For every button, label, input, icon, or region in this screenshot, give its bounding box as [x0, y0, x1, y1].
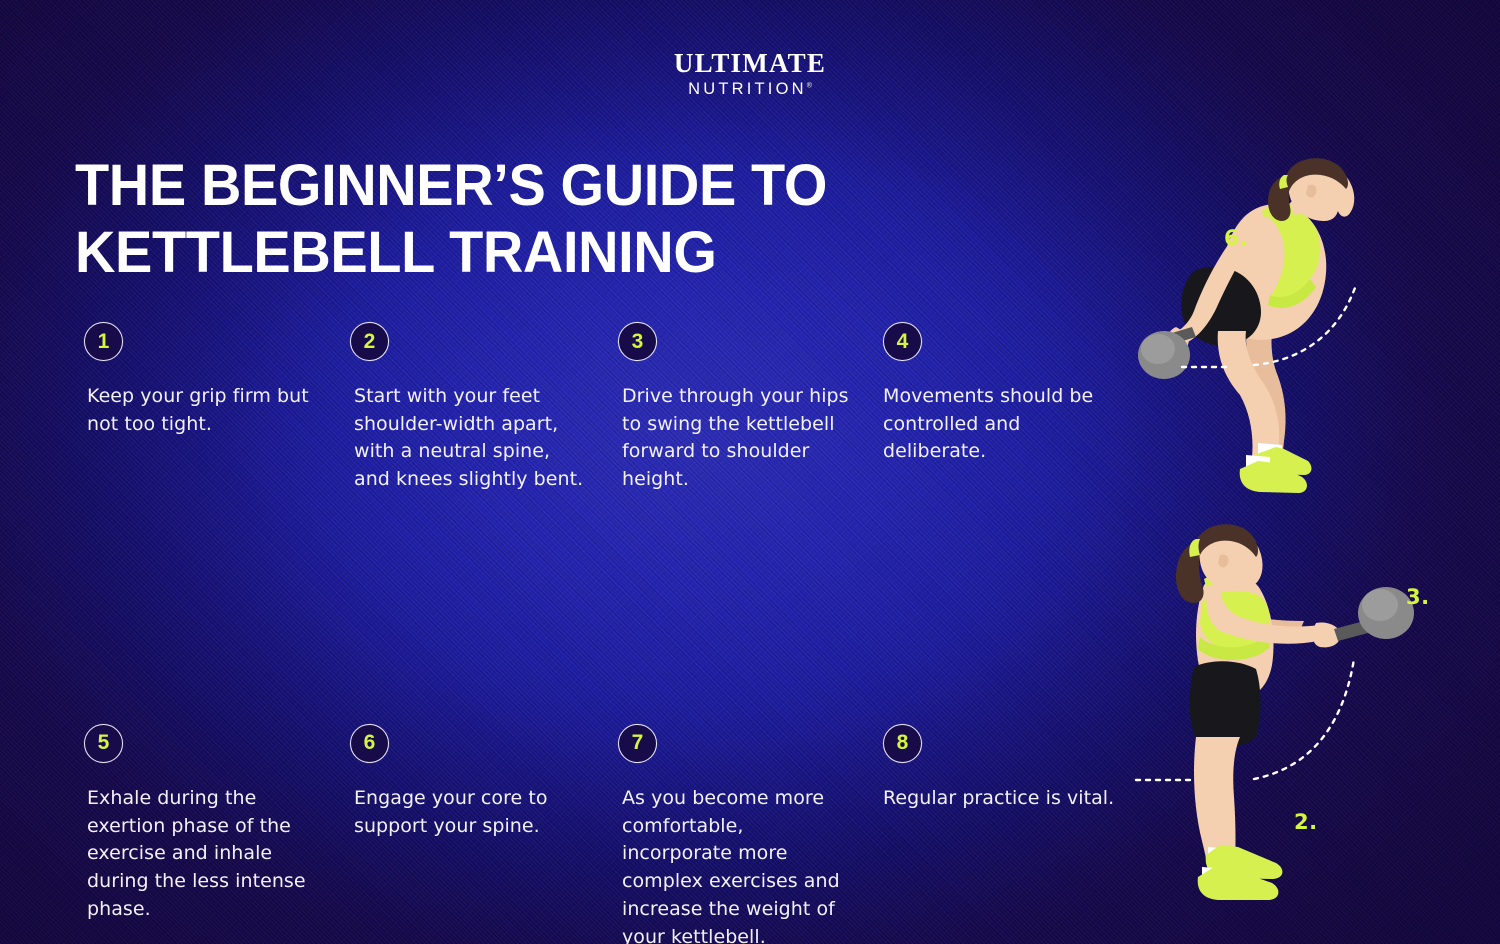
tip-number-badge-6: 6 — [350, 724, 389, 763]
tip-item-4: 4 Movements should be controlled and del… — [874, 322, 1144, 494]
kettlebell-highlight — [1141, 334, 1175, 364]
tip-text-2: Start with your feet shoulder-width apar… — [354, 383, 587, 494]
illustration-panel — [1140, 0, 1500, 944]
tip-item-5: 5 Exhale during the exertion phase of th… — [75, 724, 341, 944]
brand-name-secondary-text: NUTRITION — [688, 80, 807, 98]
tip-number-badge-7: 7 — [618, 724, 657, 763]
tip-number-1: 1 — [98, 331, 110, 352]
tip-text-1: Keep your grip firm but not too tight. — [87, 383, 319, 438]
tip-number-7: 7 — [632, 732, 644, 753]
tip-number-badge-8: 8 — [883, 724, 922, 763]
tip-text-7: As you become more comfortable, incorpor… — [622, 785, 852, 944]
swing-path2-arc — [1254, 659, 1354, 779]
tip-number-badge-5: 5 — [84, 724, 123, 763]
tip-number-5: 5 — [98, 732, 110, 753]
figure2-shorts — [1190, 661, 1261, 747]
tip-number-8: 8 — [897, 732, 909, 753]
tip-number-3: 3 — [632, 331, 644, 352]
tip-text-8: Regular practice is vital. — [883, 785, 1122, 813]
tips-grid: 1 Keep your grip firm but not too tight.… — [75, 322, 1165, 944]
tips-row-top: 1 Keep your grip firm but not too tight.… — [75, 322, 1165, 494]
illustration-step-label-2: 2. — [1294, 810, 1318, 834]
kettlebell-swing-hinge-illustration — [1158, 155, 1398, 500]
kettlebell-swing-standing-illustration — [1158, 525, 1433, 900]
tip-item-1: 1 Keep your grip firm but not too tight. — [75, 322, 341, 494]
tip-number-badge-3: 3 — [618, 322, 657, 361]
tip-item-6: 6 Engage your core to support your spine… — [341, 724, 609, 944]
tip-item-7: 7 As you become more comfortable, incorp… — [609, 724, 874, 944]
tip-text-5: Exhale during the exertion phase of the … — [87, 785, 319, 924]
page-title-line-1: THE BEGINNER’S GUIDE TO — [75, 152, 944, 219]
tip-text-3: Drive through your hips to swing the ket… — [622, 383, 852, 494]
illustration-step-label-3: 3. — [1406, 585, 1430, 609]
tip-number-2: 2 — [364, 331, 376, 352]
kettlebell-raised-highlight — [1362, 589, 1398, 621]
page-title-line-2: KETTLEBELL TRAINING — [75, 219, 944, 286]
tip-number-6: 6 — [364, 732, 376, 753]
tip-number-badge-2: 2 — [350, 322, 389, 361]
kettlebell-icon — [1138, 327, 1196, 379]
tips-row-bottom: 5 Exhale during the exertion phase of th… — [75, 724, 1165, 944]
tip-number-4: 4 — [897, 331, 909, 352]
infographic-canvas: ULTIMATE NUTRITION® THE BEGINNER’S GUIDE… — [0, 0, 1500, 944]
tip-text-6: Engage your core to support your spine. — [354, 785, 587, 840]
registered-trademark-icon: ® — [807, 83, 812, 90]
tip-number-badge-1: 1 — [84, 322, 123, 361]
illustration-step-label-6: 6. — [1224, 226, 1248, 250]
tip-item-8: 8 Regular practice is vital. — [874, 724, 1144, 944]
tip-number-badge-4: 4 — [883, 322, 922, 361]
tip-item-2: 2 Start with your feet shoulder-width ap… — [341, 322, 609, 494]
tip-text-4: Movements should be controlled and delib… — [883, 383, 1122, 466]
tip-item-3: 3 Drive through your hips to swing the k… — [609, 322, 874, 494]
kettlebell-icon-raised — [1334, 587, 1414, 641]
figure2-hair-tie — [1189, 539, 1200, 557]
page-title: THE BEGINNER’S GUIDE TO KETTLEBELL TRAIN… — [75, 152, 975, 287]
